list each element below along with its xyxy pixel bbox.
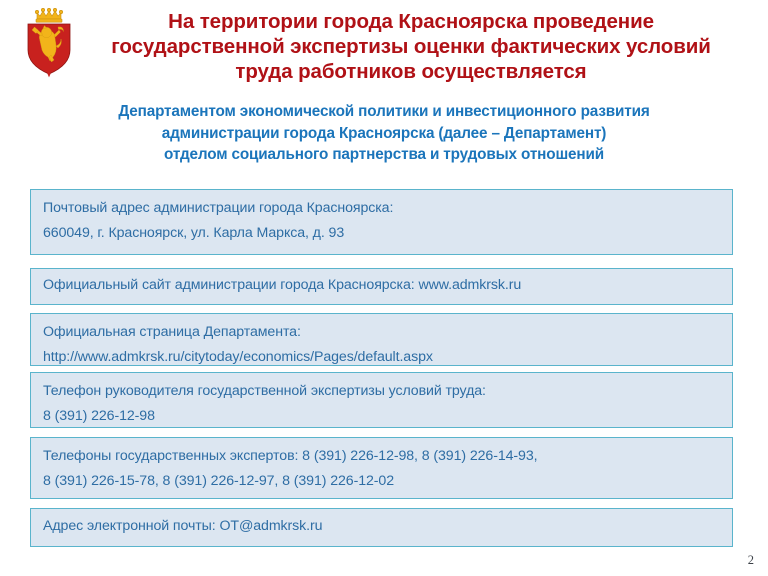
postal-address-label: Почтовый адрес администрации города Крас…	[43, 196, 732, 221]
experts-phones-line-2: 8 (391) 226-15-78, 8 (391) 226-12-97, 8 …	[43, 469, 732, 494]
title-line-2: государственной экспертизы оценки фактич…	[111, 35, 710, 58]
page-number: 2	[748, 553, 754, 568]
title-line-1: На территории города Красноярска проведе…	[168, 10, 654, 33]
subtitle-line-1: Департаментом экономической политики и и…	[24, 101, 744, 123]
page-subtitle: Департаментом экономической политики и и…	[24, 101, 744, 166]
email-address-text: Адрес электронной почты: OT@admkrsk.ru	[43, 514, 732, 539]
page-title: На территории города Красноярска проведе…	[86, 9, 736, 84]
info-box-department-page: Официальная страница Департамента: http:…	[30, 313, 733, 366]
subtitle-line-3: отделом социального партнерства и трудов…	[24, 144, 744, 166]
department-page-label: Официальная страница Департамента:	[43, 320, 732, 345]
postal-address-value: 660049, г. Красноярск, ул. Карла Маркса,…	[43, 221, 732, 246]
official-website-text: Официальный сайт администрации города Кр…	[43, 273, 732, 298]
info-box-official-website: Официальный сайт администрации города Кр…	[30, 268, 733, 305]
slide-canvas: На территории города Красноярска проведе…	[0, 0, 768, 576]
subtitle-line-2: администрации города Красноярска (далее …	[24, 123, 744, 145]
slide-header: На территории города Красноярска проведе…	[0, 0, 768, 92]
info-box-head-phone: Телефон руководителя государственной экс…	[30, 372, 733, 428]
experts-phones-line-1: Телефоны государственных экспертов: 8 (3…	[43, 444, 732, 469]
head-phone-value: 8 (391) 226-12-98	[43, 404, 732, 429]
krasnoyarsk-coat-of-arms-icon	[18, 5, 78, 79]
department-page-url: http://www.admkrsk.ru/citytoday/economic…	[43, 345, 732, 370]
info-box-postal-address: Почтовый адрес администрации города Крас…	[30, 189, 733, 255]
title-line-3: труда работников осуществляется	[235, 60, 586, 83]
head-phone-label: Телефон руководителя государственной экс…	[43, 379, 732, 404]
info-box-experts-phones: Телефоны государственных экспертов: 8 (3…	[30, 437, 733, 499]
info-box-email-address: Адрес электронной почты: OT@admkrsk.ru	[30, 508, 733, 547]
